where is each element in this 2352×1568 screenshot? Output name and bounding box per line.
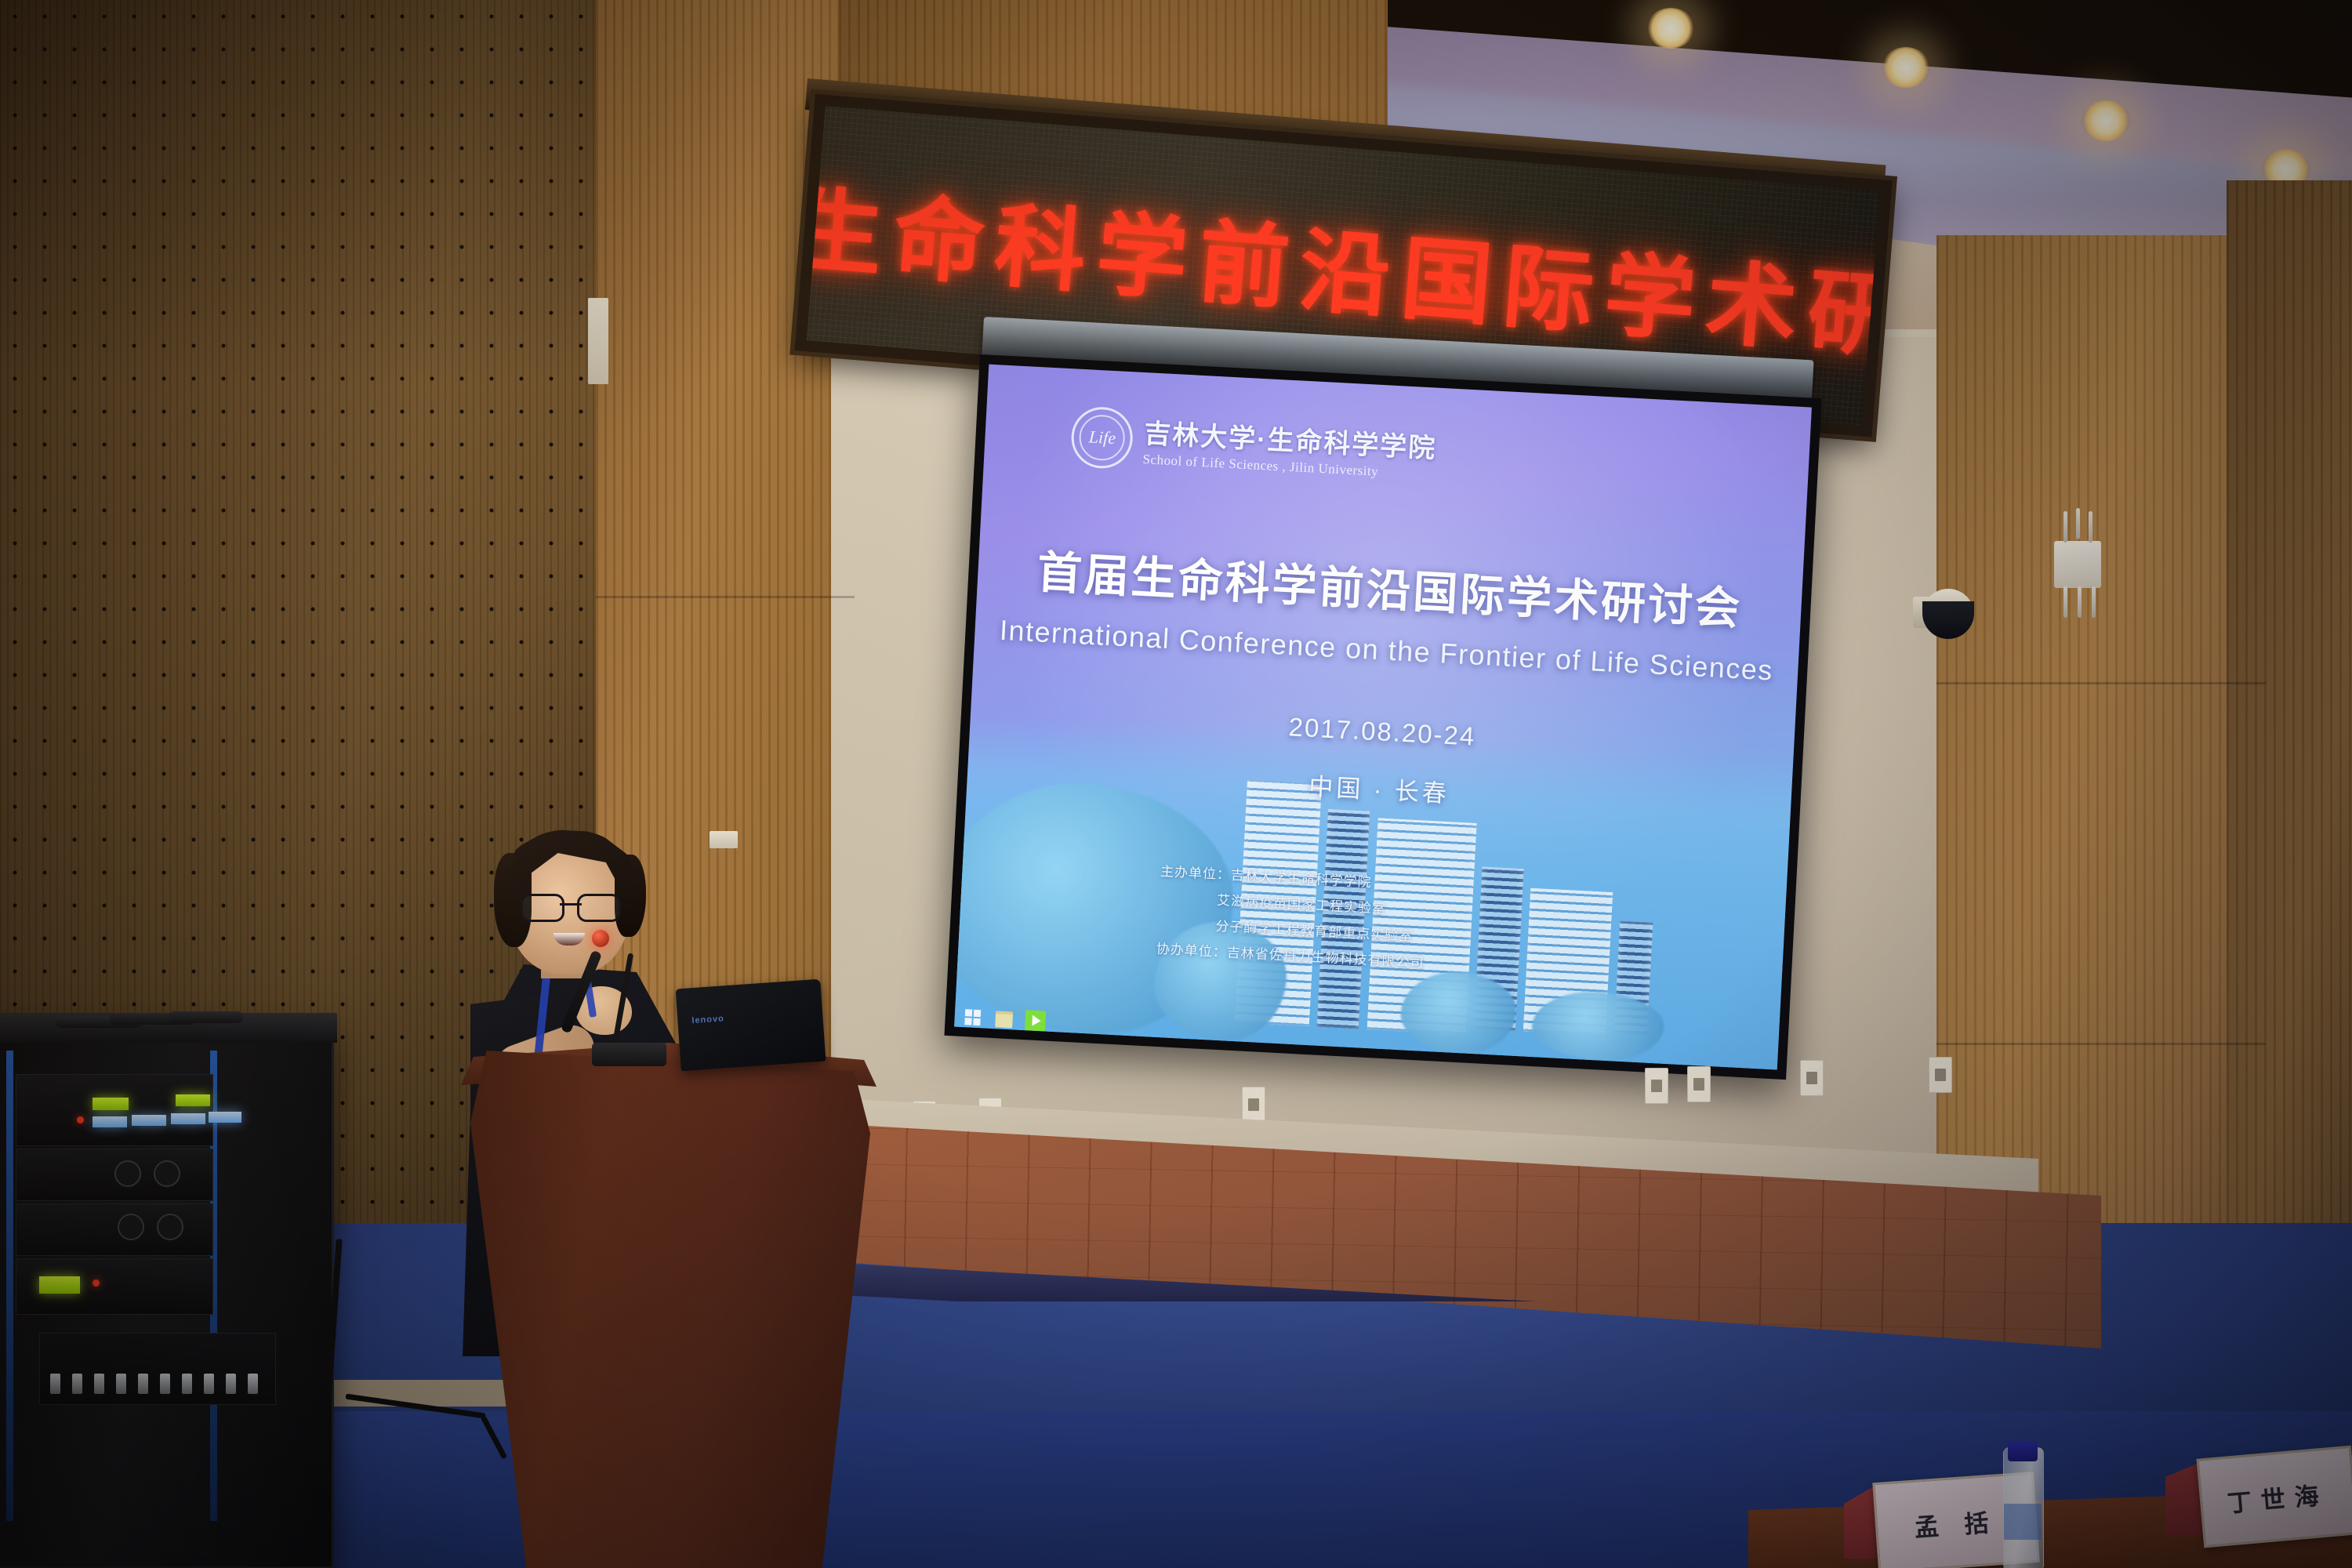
wall-outlet xyxy=(1800,1060,1824,1096)
antenna-icon xyxy=(2063,586,2067,618)
antenna-icon xyxy=(2092,586,2096,618)
wood-panel-seam xyxy=(1936,1043,2266,1045)
ceiling-downlight xyxy=(1882,47,1930,88)
university-seal-icon: Life xyxy=(1070,405,1134,470)
podium xyxy=(470,1051,870,1568)
projection-screen: Life 吉林大学·生命科学学院 School of Life Sciences… xyxy=(944,354,1821,1080)
wood-panel-seam xyxy=(596,596,855,598)
rack-green-display xyxy=(93,1098,129,1110)
rack-unit-amplifier[interactable] xyxy=(16,1203,213,1256)
presentation-slide: Life 吉林大学·生命科学学院 School of Life Sciences… xyxy=(954,365,1812,1070)
windows-start-icon[interactable] xyxy=(962,1007,983,1028)
conference-hall-photo: 首届生命科学前沿国际学术研讨会 Life xyxy=(0,0,2352,1568)
antenna-icon xyxy=(2089,511,2092,543)
wall-switch-plate xyxy=(710,831,738,848)
microphone-led-icon xyxy=(592,930,609,947)
laptop[interactable]: lenovo xyxy=(676,979,826,1072)
wall-outlet xyxy=(1687,1066,1711,1102)
wood-panel-seam xyxy=(1936,682,2266,684)
mixer-fader[interactable] xyxy=(160,1374,170,1394)
wall-outlet xyxy=(1645,1068,1668,1104)
microphone-icon xyxy=(169,1011,243,1023)
wall-speaker-mount xyxy=(588,298,608,384)
mixer-fader[interactable] xyxy=(72,1374,82,1394)
folder-icon[interactable] xyxy=(993,1008,1014,1029)
rack-blue-display xyxy=(93,1116,127,1127)
rack-blue-display xyxy=(209,1112,241,1123)
rack-green-display xyxy=(39,1276,80,1294)
mixer-fader[interactable] xyxy=(182,1374,192,1394)
antenna-icon xyxy=(2063,511,2067,543)
rack-unit-wireless-receiver[interactable] xyxy=(16,1074,213,1146)
mixer-fader[interactable] xyxy=(94,1374,104,1394)
wall-baseboard xyxy=(314,1380,517,1406)
mixer-fader[interactable] xyxy=(226,1374,236,1394)
rack-blue-display xyxy=(132,1115,166,1126)
eyeglasses-icon xyxy=(521,894,621,917)
rack-power-led xyxy=(93,1279,100,1287)
wall-outlet xyxy=(1929,1057,1952,1093)
rack-knob[interactable] xyxy=(114,1160,141,1187)
mixer-fader[interactable] xyxy=(50,1374,60,1394)
mixer-fader[interactable] xyxy=(204,1374,214,1394)
wood-wall-far-right xyxy=(2227,180,2352,1317)
ceiling-downlight xyxy=(2082,100,2130,141)
antenna-icon xyxy=(2076,508,2080,539)
mixer-fader[interactable] xyxy=(248,1374,258,1394)
university-name-block: 吉林大学·生命科学学院 School of Life Sciences , Ji… xyxy=(1142,412,1438,482)
rack-knob[interactable] xyxy=(157,1214,183,1240)
rack-knob[interactable] xyxy=(118,1214,144,1240)
microphone-base xyxy=(592,1043,666,1066)
seal-text: Life xyxy=(1088,426,1116,448)
mixer-fader[interactable] xyxy=(138,1374,148,1394)
bottle-label xyxy=(2004,1504,2042,1540)
wall-outlet xyxy=(1242,1087,1265,1123)
audio-mixer[interactable] xyxy=(39,1333,276,1405)
rack-knob[interactable] xyxy=(154,1160,180,1187)
bottle-cap xyxy=(2008,1441,2038,1461)
camera-dome-icon xyxy=(1922,601,1974,639)
ptz-dome-camera xyxy=(1913,584,1974,639)
rack-power-led xyxy=(77,1116,84,1123)
rack-green-display xyxy=(176,1094,210,1106)
rack-blue-display xyxy=(171,1113,205,1124)
wifi-access-point xyxy=(2054,541,2101,588)
rack-rail-light xyxy=(6,1051,13,1521)
mixer-fader[interactable] xyxy=(116,1374,126,1394)
antenna-icon xyxy=(2078,586,2082,618)
slide-organizers: 主办单位：吉林大学生命科学学院 艾滋病疫苗国家工程实验室 分子酶学工程教育部重点… xyxy=(1156,858,1428,976)
ceiling-downlight xyxy=(1646,8,1695,49)
namecard: 丁世海 xyxy=(2196,1446,2352,1548)
laptop-brand-label: lenovo xyxy=(691,1014,724,1025)
media-player-icon[interactable] xyxy=(1025,1010,1046,1031)
rack-stored-microphones xyxy=(8,1013,243,1033)
